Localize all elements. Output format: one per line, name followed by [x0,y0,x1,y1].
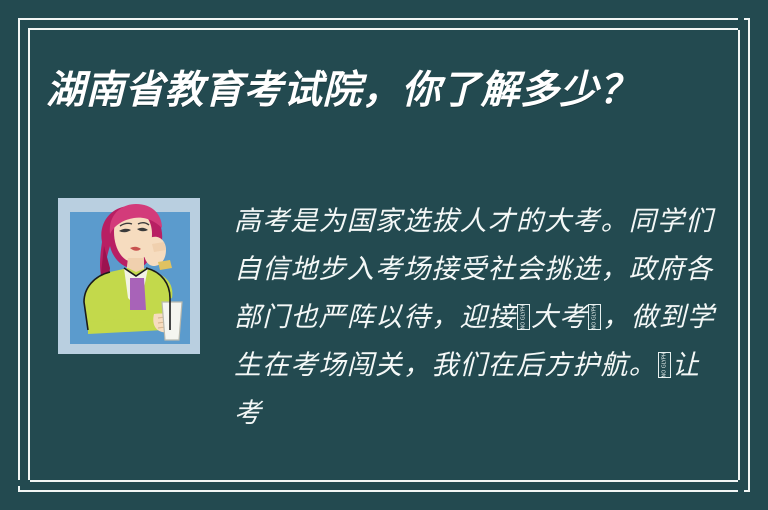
article-content: 高考是为国家选拔人才的大考。同学们自信地步入考场接受社会挑选，政府各部门也严阵以… [46,198,726,438]
body-segment-2: 大考 [531,302,587,333]
article-body: 高考是为国家选拔人才的大考。同学们自信地步入考场接受社会挑选，政府各部门也严阵以… [234,198,726,438]
missing-glyph-icon [517,304,530,330]
frame-notch-bottom-left [16,480,30,486]
frame-notch-bottom-right [738,480,744,494]
woman-with-cup-illustration [58,198,200,354]
missing-glyph-icon [658,352,671,378]
illustration-artwork [58,198,200,354]
page-title: 湖南省教育考试院，你了解多少？ [46,64,706,118]
missing-glyph-icon [588,304,601,330]
frame-notch-top-right [738,16,744,30]
poster-canvas: 湖南省教育考试院，你了解多少？ [0,0,768,510]
